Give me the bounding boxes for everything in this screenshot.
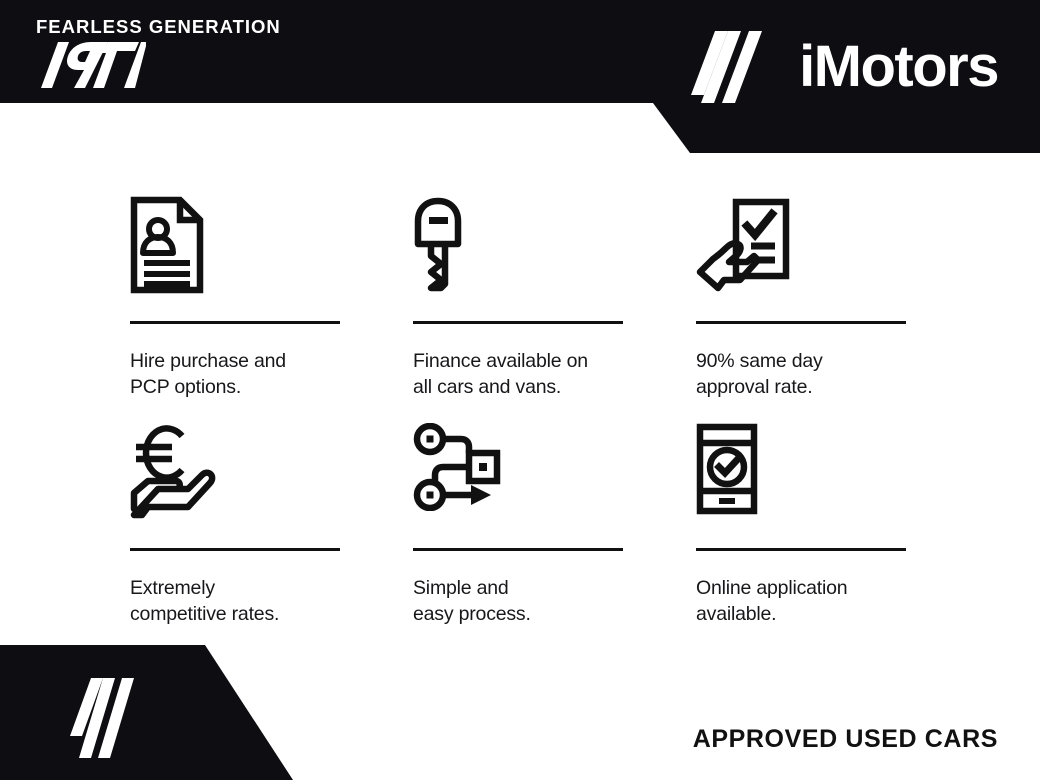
tagline-text: FEARLESS GENERATION (36, 18, 281, 37)
smartphone-check-icon (696, 423, 758, 515)
document-person-icon (130, 196, 204, 294)
feature-icon-slot (696, 196, 906, 304)
marketing-poster: FEARLESS GENERATION (0, 0, 1040, 780)
hand-holding-checklist-icon (696, 196, 792, 294)
feature-card: Finance available on all cars and vans. (413, 196, 623, 401)
feature-divider (413, 548, 623, 551)
feature-card: Extremely competitive rates. (130, 423, 340, 628)
feature-text: 90% same day approval rate. (696, 348, 906, 401)
feature-grid: Hire purchase and PCP options. Finance a… (130, 196, 910, 627)
tagline-block: FEARLESS GENERATION (36, 18, 281, 93)
feature-card: Simple and easy process. (413, 423, 623, 628)
feature-icon-slot (130, 423, 340, 531)
feature-text: Extremely competitive rates. (130, 575, 340, 628)
feature-text: Finance available on all cars and vans. (413, 348, 623, 401)
brand-lockup: iMotors (691, 27, 998, 107)
feature-divider (130, 321, 340, 324)
imotors-chevron-logo-icon (691, 27, 783, 107)
car-key-icon (413, 196, 463, 294)
feature-card: Online application available. (696, 423, 906, 628)
brand-name-text: iMotors (799, 38, 998, 96)
feature-text: Simple and easy process. (413, 575, 623, 628)
footer-caption: APPROVED USED CARS (693, 727, 998, 752)
imotors-chevron-logo-icon (70, 674, 152, 762)
feature-icon-slot (130, 196, 340, 304)
feature-icon-slot (413, 423, 623, 531)
feature-card: Hire purchase and PCP options. (130, 196, 340, 401)
feature-icon-slot (413, 196, 623, 304)
feature-divider (413, 321, 623, 324)
euro-in-hand-icon (130, 423, 226, 521)
year-1971-graphic (36, 42, 146, 88)
feature-card: 90% same day approval rate. (696, 196, 906, 401)
feature-divider (696, 548, 906, 551)
process-flow-icon (413, 423, 507, 511)
feature-text: Hire purchase and PCP options. (130, 348, 340, 401)
feature-text: Online application available. (696, 575, 906, 628)
feature-divider (696, 321, 906, 324)
feature-divider (130, 548, 340, 551)
feature-icon-slot (696, 423, 906, 531)
